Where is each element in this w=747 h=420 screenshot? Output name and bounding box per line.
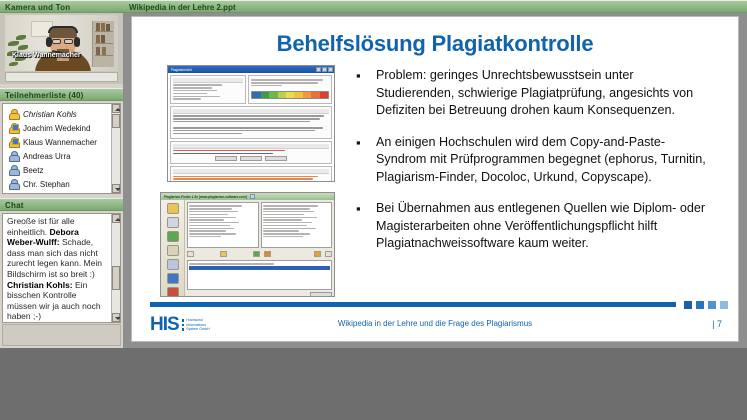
window-buttons [314,67,333,72]
plagiarism-report-screenshot: Plagiatsbericht [167,65,335,182]
camera-video-area[interactable]: Klaus Wannemacher [0,13,123,84]
participant-name: Klaus Wannemacher [23,138,97,147]
finder-window-titlebar: Plagiarism-Finder 1.5x [www.plagiarism-s… [161,193,334,200]
screen: Kamera und Ton [0,0,747,420]
footer-accent-bar [150,302,676,307]
participants-panel-title: Teilnehmerliste (40) [0,88,123,101]
bullet-marker: ▪ [354,200,376,253]
bullet-item: ▪ Bei Übernahmen aus entlegenen Quellen … [354,200,710,253]
user-blue-icon [8,151,19,161]
chat-panel: Chat Greoße ist für alle einheitlich. De… [0,198,123,348]
user-gold-screen-icon [8,137,19,147]
bullet-text: Bei Übernahmen aus entlegenen Quellen wi… [376,200,710,253]
toolbar-button[interactable] [325,251,332,257]
bullet-marker: ▪ [354,67,376,120]
toolbar-button[interactable] [253,251,260,257]
chat-message-author: Christian Kohls: [7,280,73,290]
toolbar-button[interactable] [187,251,194,257]
camera-video: Klaus Wannemacher [5,15,118,71]
bullet-item: ▪ An einigen Hochschulen wird dem Copy-a… [354,134,710,187]
page-number: 7 [717,319,722,329]
bookshelf [92,21,114,67]
finder-tree-columns [187,202,332,248]
participant-name: Beetz [23,166,43,175]
report-gauge-box [248,75,332,104]
webinar-sidebar: Kamera und Ton [0,0,123,348]
report-highlight-box [170,166,332,182]
user-blue-icon [8,179,19,189]
participant-name: Joachim Wedekind [23,124,90,133]
footer-squares [684,301,728,309]
scroll-down-button[interactable] [112,313,120,322]
finder-action-buttons[interactable] [187,292,332,297]
finder-document-list[interactable] [261,202,333,248]
bullet-marker: ▪ [354,134,376,187]
finder-results-pane[interactable] [187,260,332,290]
scroll-up-button[interactable] [112,214,120,223]
slide-title: Behelfslösung Plagiatkontrolle [132,31,738,57]
toolbar-button[interactable] [264,251,271,257]
selected-result-row[interactable] [189,266,330,270]
chat-input-area[interactable] [2,324,121,346]
stop-icon[interactable] [167,287,179,297]
speaker-name-overlay: Klaus Wannemacher [12,52,81,59]
compare-icon[interactable] [167,259,179,270]
finder-content [161,200,334,297]
report-icon[interactable] [167,245,179,256]
report-window-title: Plagiatsbericht [169,68,192,72]
bullet-text: An einigen Hochschulen wird dem Copy-and… [376,134,710,187]
scroll-down-button[interactable] [112,184,120,193]
presentation-window-title: Wikipedia in der Lehre 2.ppt [123,0,747,13]
scrollbar-thumb[interactable] [112,114,120,128]
participant-name: Chr. Stephan [23,180,70,189]
list-item[interactable]: Beetz [3,163,111,177]
report-meta-box [170,75,246,104]
user-gold-icon [8,109,19,119]
report-sources-table [170,141,332,165]
similarity-gauge [251,91,329,99]
finder-window-title: Plagiarism-Finder 1.5x [www.plagiarism-s… [162,195,248,199]
slide-bullets: ▪ Problem: geringes Unrechtsbewusstsein … [354,67,710,267]
list-item[interactable]: Andreas Urra [3,149,111,163]
user-blue-icon [8,165,19,175]
toolbar-button[interactable] [220,251,227,257]
finder-sidebar[interactable] [161,200,185,297]
chat-messages-body: Greoße ist für alle einheitlich. Debora … [2,213,121,323]
chat-scrollbar[interactable] [111,214,120,322]
scroll-up-button[interactable] [112,104,120,113]
slide: Behelfslösung Plagiatkontrolle Plagiatsb… [131,16,739,342]
page-separator: | [712,319,714,329]
list-item[interactable]: Klaus Wannemacher [3,135,111,149]
presentation-stage: Wikipedia in der Lehre 2.ppt Behelfslösu… [123,0,747,348]
settings-icon[interactable] [167,217,179,228]
finder-source-tree[interactable] [187,202,259,248]
chat-panel-title: Chat [0,198,123,211]
camera-panel: Kamera und Ton [0,0,123,88]
report-buttons[interactable] [173,156,329,161]
scrollbar-thumb[interactable] [112,266,120,290]
slide-page-number: | 7 [712,319,722,329]
finder-main [185,200,334,297]
footer-subtitle: Wikipedia in der Lehre und die Frage des… [132,319,738,328]
web-icon[interactable] [167,273,179,284]
bullet-item: ▪ Problem: geringes Unrechtsbewusstsein … [354,67,710,120]
start-icon[interactable] [167,231,179,242]
report-text-box [170,106,332,138]
camera-toolbar-strip[interactable] [5,72,118,82]
participants-panel: Teilnehmerliste (40) Christian Kohls Joa… [0,88,123,198]
plagiarism-finder-screenshot: Plagiarism-Finder 1.5x [www.plagiarism-s… [160,192,335,297]
participant-name: Christian Kohls [23,110,77,119]
participants-list-body: Christian Kohls Joachim Wedekind Klaus W… [2,103,121,194]
list-item[interactable]: Joachim Wedekind [3,121,111,135]
user-gold-screen-icon [8,123,19,133]
list-item[interactable]: Chr. Stephan [3,177,111,191]
participants-scrollbar[interactable] [111,104,120,193]
bullet-text: Problem: geringes Unrechtsbewusstsein un… [376,67,710,120]
plant [6,29,32,69]
window-buttons [248,194,334,199]
folder-icon[interactable] [167,203,179,214]
participants-list: Christian Kohls Joachim Wedekind Klaus W… [3,107,111,193]
chat-message-list[interactable]: Greoße ist für alle einheitlich. Debora … [3,214,111,322]
report-window-titlebar: Plagiatsbericht [168,66,334,73]
speaker-figure [35,25,91,71]
list-item[interactable]: Christian Kohls [3,107,111,121]
finder-toolbar[interactable] [187,250,332,258]
camera-panel-title: Kamera und Ton [0,0,123,13]
participant-name: Andreas Urra [23,152,71,161]
toolbar-button[interactable] [314,251,321,257]
report-content [168,73,334,182]
